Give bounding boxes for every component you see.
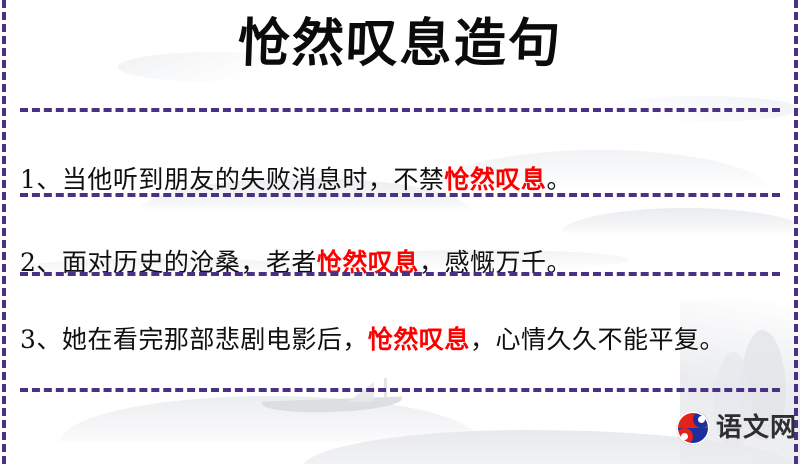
page-title: 怆然叹息造句 — [237, 14, 563, 74]
entry-text-before-1: 当他听到朋友的失败消息时，不禁 — [62, 165, 445, 194]
entry-text-after-3: ，心情久久不能平复。 — [470, 325, 725, 354]
title-block: 怆然叹息造句 — [0, 14, 800, 74]
entry-number-3: 3、 — [20, 325, 62, 354]
sentence-example-card: 怆然叹息造句 1、当他听到朋友的失败消息时，不禁怆然叹息。 2、面对历史的沧桑，… — [0, 0, 800, 464]
border-dashed-right — [794, 0, 798, 464]
separator-below-entry-3 — [20, 388, 780, 392]
site-logo: 语文网 — [676, 411, 797, 445]
example-sentence-2: 2、面对历史的沧桑，老者怆然叹息，感慨万千。 — [20, 240, 760, 286]
highlighted-idiom-1: 怆然叹息 — [444, 165, 546, 194]
separator-above-entry-1 — [20, 108, 780, 112]
border-dashed-left — [2, 0, 6, 464]
entry-text-before-3: 她在看完那部悲剧电影后， — [62, 325, 368, 354]
yinyang-outer-ring — [676, 411, 710, 445]
entry-number-1: 1、 — [20, 165, 62, 194]
yinyang-circle-icon — [676, 411, 710, 445]
entry-text-after-1: 。 — [546, 165, 572, 194]
site-logo-text: 语文网 — [716, 415, 797, 441]
separator-between-entry-1-and-2 — [20, 193, 780, 197]
example-sentence-3: 3、她在看完那部悲剧电影后，怆然叹息，心情久久不能平复。 — [20, 317, 742, 363]
highlighted-idiom-3: 怆然叹息 — [368, 325, 470, 354]
separator-between-entry-2-and-3 — [20, 272, 780, 276]
